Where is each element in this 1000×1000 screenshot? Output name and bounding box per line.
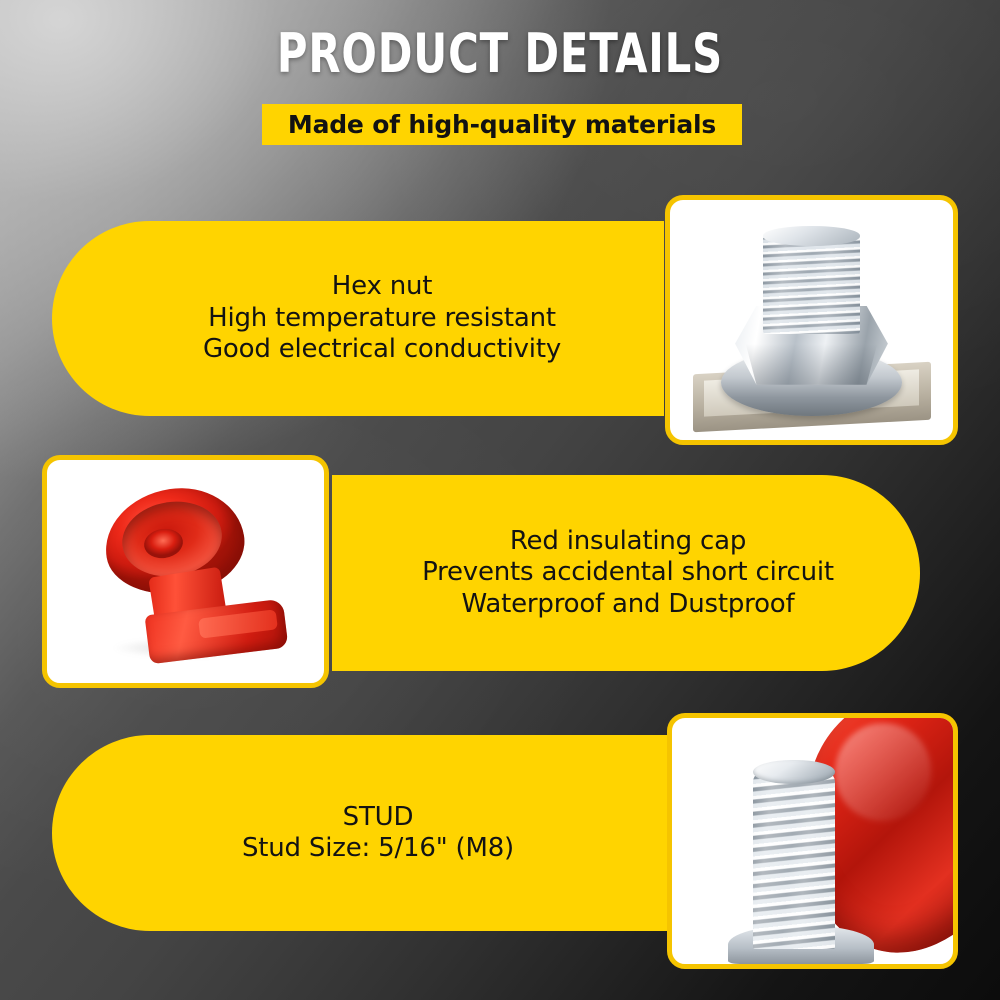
hex-nut-body-shade xyxy=(735,344,888,385)
subtitle-banner: Made of high-quality materials xyxy=(262,104,742,145)
subtitle-text: Made of high-quality materials xyxy=(288,110,716,139)
feature-pill-red-cap: Red insulating cap Prevents accidental s… xyxy=(332,475,920,671)
feature-text-red-cap: Red insulating cap Prevents accidental s… xyxy=(332,526,920,620)
product-details-infographic: PRODUCT DETAILS Made of high-quality mat… xyxy=(0,0,1000,1000)
red-insulating-cap-photo xyxy=(47,460,324,683)
feature-pill-hex-nut: Hex nut High temperature resistant Good … xyxy=(52,221,664,416)
feature-pill-stud: STUD Stud Size: 5/16" (M8) xyxy=(52,735,668,931)
feature-photo-card-red-cap xyxy=(42,455,329,688)
stud-threaded-shaft xyxy=(753,772,834,949)
feature-photo-card-hex-nut xyxy=(665,195,958,445)
feature-text-hex-nut: Hex nut High temperature resistant Good … xyxy=(52,271,652,365)
stud-photo xyxy=(672,718,953,964)
feature-photo-card-stud xyxy=(667,713,958,969)
feature-text-stud: STUD Stud Size: 5/16" (M8) xyxy=(52,802,668,865)
hex-nut-photo xyxy=(670,200,953,440)
hex-nut-stud-top xyxy=(763,226,859,245)
hex-nut-threaded-stud xyxy=(763,234,859,335)
page-title: PRODUCT DETAILS xyxy=(70,27,930,81)
